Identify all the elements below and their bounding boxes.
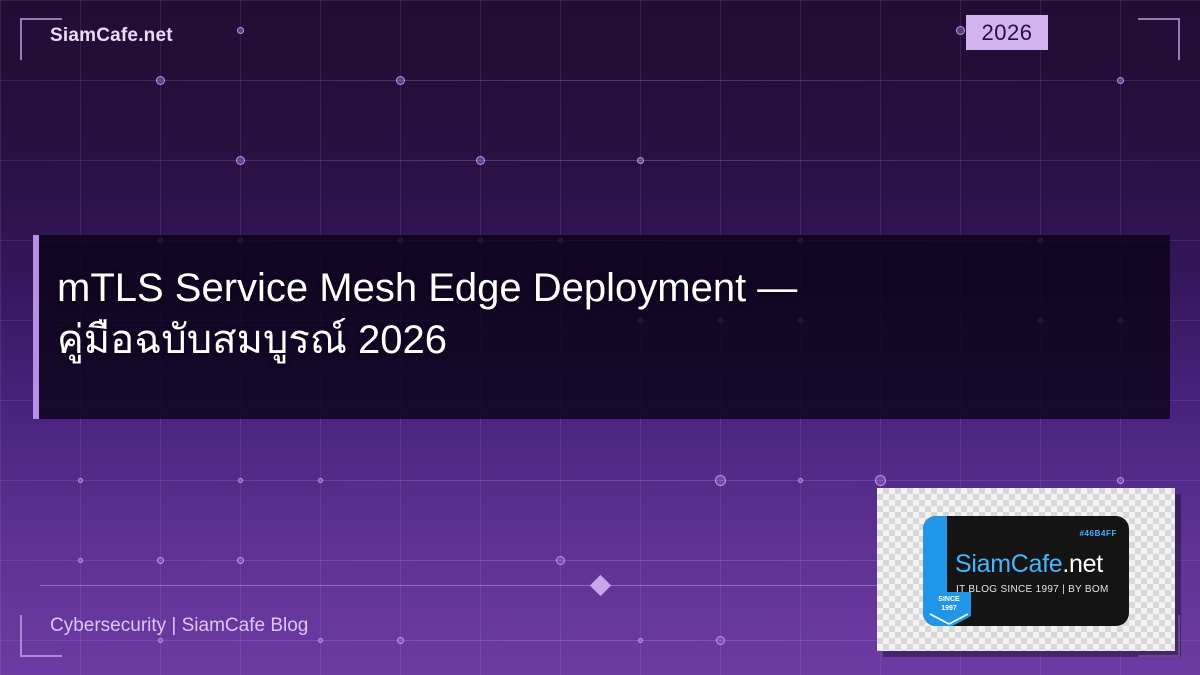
grid-node <box>78 558 83 563</box>
grid-node <box>156 76 165 85</box>
grid-node <box>1117 77 1124 84</box>
grid-node <box>396 76 405 85</box>
logo-wordmark-suffix: .net <box>1062 550 1103 578</box>
page-title: mTLS Service Mesh Edge Deployment — คู่ม… <box>57 262 1147 366</box>
footer-category-label: Cybersecurity | SiamCafe Blog <box>50 615 308 637</box>
grid-node <box>476 156 485 165</box>
year-badge: 2026 <box>966 15 1048 50</box>
grid-node <box>556 556 565 565</box>
slide-canvas: SiamCafe.net 2026 mTLS Service Mesh Edge… <box>0 0 1200 675</box>
grid-node <box>715 475 726 486</box>
logo-inner-panel: #46B4FF SiamCafe.net IT BLOG SINCE 1997 … <box>923 516 1129 626</box>
grid-node <box>397 637 404 644</box>
grid-node <box>318 478 323 483</box>
since-ribbon-label: SINCE 1997 <box>927 595 971 613</box>
logo-wordmark-primary: SiamCafe <box>955 550 1062 578</box>
grid-node <box>157 557 164 564</box>
grid-node <box>956 26 965 35</box>
grid-node <box>318 638 323 643</box>
grid-node <box>236 156 245 165</box>
diamond-marker-icon <box>590 575 611 596</box>
grid-node <box>237 557 244 564</box>
grid-node <box>78 478 83 483</box>
title-panel: mTLS Service Mesh Edge Deployment — คู่ม… <box>33 235 1170 419</box>
grid-node <box>716 636 725 645</box>
connector-line <box>0 480 1200 481</box>
grid-node <box>875 475 886 486</box>
logo-hex-code: #46B4FF <box>1079 529 1117 538</box>
site-name: SiamCafe.net <box>50 25 173 47</box>
title-accent-bar <box>33 235 39 419</box>
grid-node <box>238 478 243 483</box>
grid-node <box>1117 477 1124 484</box>
grid-node <box>798 478 803 483</box>
logo-card: #46B4FF SiamCafe.net IT BLOG SINCE 1997 … <box>877 488 1175 651</box>
logo-wordmark: SiamCafe.net <box>955 550 1103 579</box>
grid-node <box>638 638 643 643</box>
since-ribbon-icon: SINCE 1997 <box>927 592 971 626</box>
logo-tagline: IT BLOG SINCE 1997 | BY BOM <box>956 584 1109 595</box>
grid-node <box>158 638 163 643</box>
corner-bracket-top-right <box>1138 18 1180 60</box>
connector-line <box>0 160 1200 161</box>
grid-node <box>637 157 644 164</box>
grid-node <box>237 27 244 34</box>
connector-line <box>0 80 1200 81</box>
